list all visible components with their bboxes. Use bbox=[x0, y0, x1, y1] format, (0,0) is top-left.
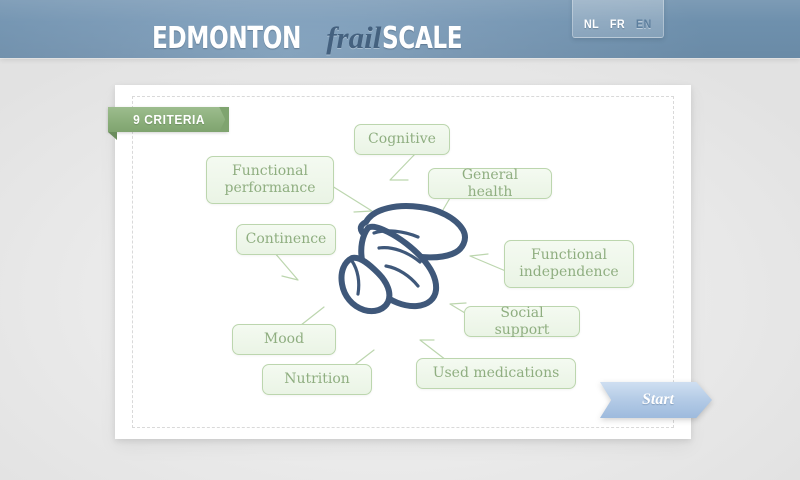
criterion-label-general-health: General health bbox=[429, 167, 551, 201]
app-header: EDMONTONfrailSCALE NL FR EN bbox=[0, 0, 800, 58]
criterion-label-continence: Continence bbox=[236, 231, 337, 248]
criterion-bubble-mood[interactable]: Mood bbox=[232, 324, 336, 355]
start-button[interactable]: Start bbox=[600, 382, 712, 418]
app-logo: EDMONTONfrailSCALE bbox=[152, 22, 476, 54]
start-button-label: Start bbox=[600, 382, 712, 418]
criterion-label-social-support: Social support bbox=[465, 305, 579, 339]
criterion-bubble-continence[interactable]: Continence bbox=[236, 224, 336, 255]
language-option-fr[interactable]: FR bbox=[610, 17, 625, 31]
criterion-label-functional-independence: Functional independence bbox=[509, 247, 628, 281]
criterion-bubble-functional-independence[interactable]: Functional independence bbox=[504, 240, 634, 288]
app-root: EDMONTONfrailSCALE NL FR EN 9 CRITERIA bbox=[0, 0, 800, 480]
logo-word-frail: frail bbox=[326, 22, 381, 53]
logo-word-edmonton: EDMONTON bbox=[152, 24, 301, 54]
criterion-bubble-cognitive[interactable]: Cognitive bbox=[354, 124, 450, 155]
criterion-bubble-functional-performance[interactable]: Functional performance bbox=[206, 156, 334, 204]
criterion-bubble-nutrition[interactable]: Nutrition bbox=[262, 364, 372, 395]
language-option-en[interactable]: EN bbox=[636, 17, 652, 31]
criterion-label-cognitive: Cognitive bbox=[358, 131, 446, 148]
criterion-label-mood: Mood bbox=[254, 331, 314, 348]
criterion-bubble-social-support[interactable]: Social support bbox=[464, 306, 580, 337]
logo-word-scale: SCALE bbox=[382, 24, 462, 54]
criterion-label-functional-performance: Functional performance bbox=[214, 163, 325, 197]
language-option-nl[interactable]: NL bbox=[584, 17, 599, 31]
criterion-label-used-medications: Used medications bbox=[423, 365, 570, 382]
criterion-bubble-general-health[interactable]: General health bbox=[428, 168, 552, 199]
criteria-ribbon: 9 CRITERIA bbox=[108, 107, 228, 132]
criteria-ribbon-label: 9 CRITERIA bbox=[133, 112, 205, 127]
language-switcher: NL FR EN bbox=[572, 0, 664, 38]
criterion-label-nutrition: Nutrition bbox=[274, 371, 360, 388]
criterion-bubble-used-medications[interactable]: Used medications bbox=[416, 358, 576, 389]
